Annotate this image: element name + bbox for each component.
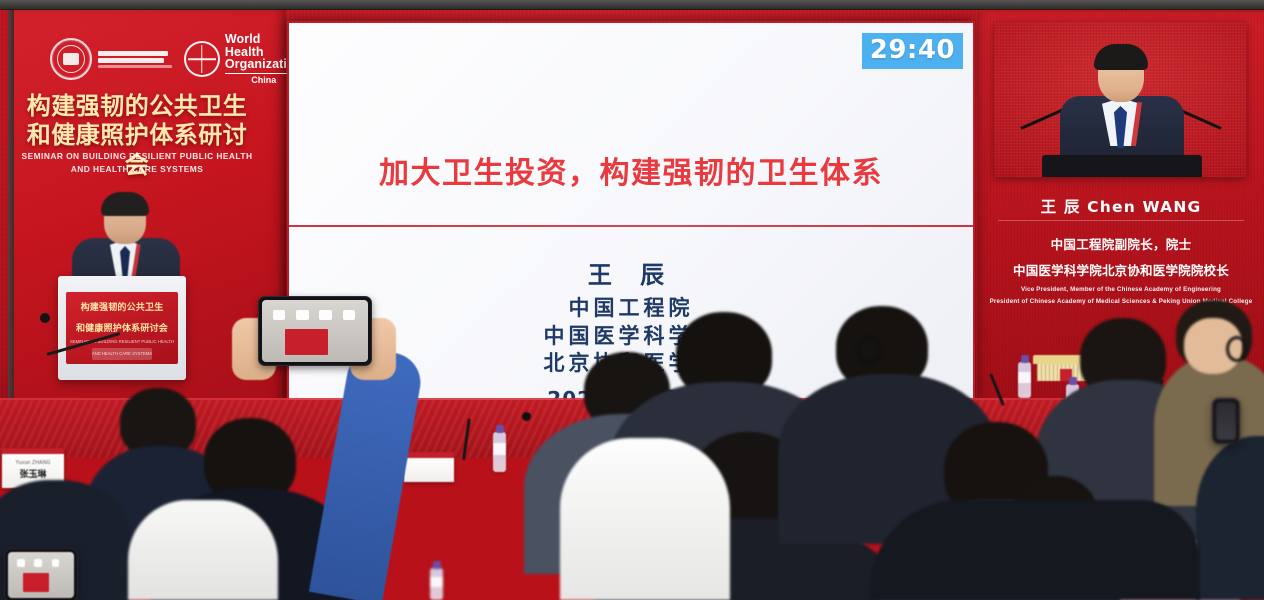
led-title-line2: 中国医学科学院北京协和医学院院校长 <box>978 260 1264 279</box>
phone-screen <box>262 300 368 362</box>
water-bottle <box>430 568 443 600</box>
bottle-cap <box>1069 377 1077 385</box>
name-card-en: Yuxun ZHANG <box>2 460 64 466</box>
headset-icon <box>1226 336 1248 362</box>
cams-seal-icon <box>50 38 92 80</box>
lectern-sign-logo <box>92 348 152 360</box>
bottle-label <box>430 577 443 587</box>
bottle-label <box>493 443 506 455</box>
led-title-en-line1: Vice President, Member of the Chinese Ac… <box>978 286 1264 293</box>
led-divider <box>998 220 1244 221</box>
who-globe-icon <box>184 41 220 77</box>
slide-title: 加大卫生投资，构建强韧的卫生体系 <box>289 148 973 192</box>
video-speaker-hair <box>1094 44 1148 70</box>
led-title-line1: 中国工程院副院长，院士 <box>978 234 1264 253</box>
headset-icon <box>856 336 882 364</box>
smartphone-recording-center[interactable] <box>258 296 372 366</box>
chair-back <box>128 500 278 600</box>
phone-screen <box>1216 402 1236 440</box>
bottle-cap <box>496 425 504 433</box>
phone-screen-subject <box>23 573 49 592</box>
backdrop-subtitle-line1: SEMINAR ON BUILDING RESILIENT PUBLIC HEA… <box>16 150 258 163</box>
smartphone-recording-bottom-left[interactable] <box>4 548 78 600</box>
lectern-sign-title-line2: 和健康照护体系研讨会 <box>66 322 178 334</box>
speaker-live-video <box>994 22 1246 177</box>
smartphone-handheld-right[interactable] <box>1212 398 1240 444</box>
slide-speaker-name: 王 辰 <box>289 255 973 290</box>
conference-photo-scene: World Health Organization China 构建强韧的公共卫… <box>0 0 1264 600</box>
bottle-label <box>1018 372 1031 383</box>
chair-back <box>560 438 730 600</box>
backdrop-logo-row: World Health Organization China <box>50 35 280 83</box>
backdrop-subtitle-line2: AND HEALTH CARE SYSTEMS <box>16 163 258 176</box>
phone-screen <box>8 552 74 598</box>
video-lectern <box>1042 155 1202 177</box>
backdrop-title-line1: 构建强韧的公共卫生 <box>16 92 258 121</box>
cams-pumc-logo <box>50 38 172 80</box>
backdrop-subtitle: SEMINAR ON BUILDING RESILIENT PUBLIC HEA… <box>16 150 258 176</box>
lectern-microphone-icon <box>40 313 50 323</box>
lectern-sign: 构建强韧的公共卫生 和健康照护体系研讨会 SEMINAR ON BUILDING… <box>66 292 178 364</box>
phone-screen-subject <box>285 329 327 355</box>
cams-logo-wordmark <box>98 51 172 68</box>
lectern-sign-title-line1: 构建强韧的公共卫生 <box>66 301 178 313</box>
name-card-table <box>404 452 454 482</box>
water-bottle <box>1018 362 1031 398</box>
bottle-cap <box>433 561 441 569</box>
bottle-cap <box>1021 355 1029 363</box>
table-microphone-icon <box>522 412 531 421</box>
name-card-cn: 张玉琳 <box>2 467 64 480</box>
water-bottle <box>493 432 506 472</box>
foreground-shoulder <box>870 500 1200 600</box>
speaker-hair <box>101 192 149 216</box>
led-speaker-name: 王 辰 Chen WANG <box>978 195 1264 217</box>
presentation-timer: 29:40 <box>862 33 963 69</box>
slide-divider <box>289 225 973 227</box>
